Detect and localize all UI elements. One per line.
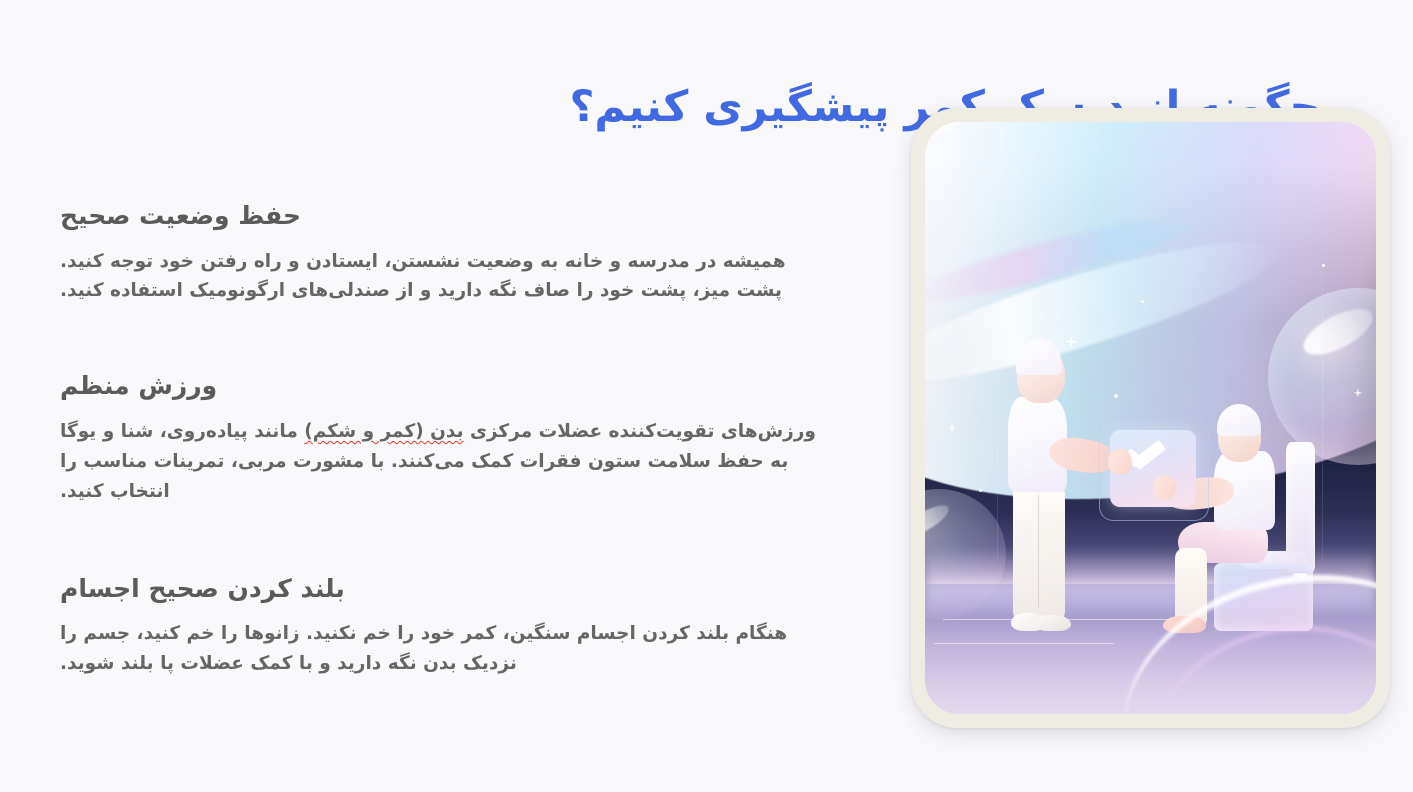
spellcheck-flagged-text: بدن (کمر و شکم) [304,421,463,442]
standing-person-foot [1035,615,1070,632]
body-text-part-1: هنگام بلند کردن اجسام سنگین، کمر خود را … [60,623,787,674]
standing-person-hand [1108,449,1132,475]
section-heading-posture: حفظ وضعیت صحیح [60,200,835,233]
section-body-lifting: هنگام بلند کردن اجسام سنگین، کمر خود را … [60,619,835,679]
standing-person-leg-seam [1038,495,1039,607]
section-body-exercise: ورزش‌های تقویت‌کننده عضلات مرکزی بدن (کم… [60,417,835,507]
section-posture: حفظ وضعیت صحیح همیشه در مدرسه و خانه به … [60,200,835,306]
section-heading-exercise: ورزش منظم [60,370,835,403]
content-column: حفظ وضعیت صحیح همیشه در مدرسه و خانه به … [60,200,835,679]
slide-canvas: چگونه از دیسک کمر پیشگیری کنیم؟ حفظ وضعی… [0,0,1413,792]
section-exercise: ورزش منظم ورزش‌های تقویت‌کننده عضلات مرک… [60,370,835,506]
standing-person-legs [1013,486,1065,619]
section-heading-lifting: بلند کردن صحیح اجسام [60,573,835,606]
illustration-frame [911,108,1390,728]
floor-reflection-line [934,643,1114,644]
wall-panel-line [997,229,998,561]
body-text-part-1: ورزش‌های تقویت‌کننده عضلات مرکزی [464,421,816,442]
body-text-part-1: همیشه در مدرسه و خانه به وضعیت نشستن، ای… [60,251,786,302]
section-lifting: بلند کردن صحیح اجسام هنگام بلند کردن اجس… [60,573,835,679]
wall-panel-line [1322,229,1323,561]
seated-person-hand [1153,475,1176,500]
section-body-posture: همیشه در مدرسه و خانه به وضعیت نشستن، ای… [60,247,835,307]
illustration-image [925,122,1376,714]
